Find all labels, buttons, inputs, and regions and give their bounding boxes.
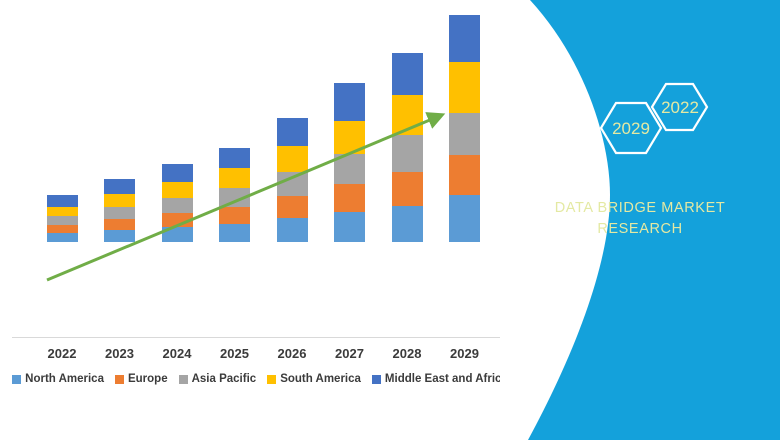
legend-swatch-icon (179, 375, 188, 384)
x-axis-label-2029: 2029 (435, 346, 495, 361)
bar-segment-europe[interactable] (47, 225, 78, 233)
chart-legend: North AmericaEuropeAsia PacificSouth Ame… (0, 373, 520, 385)
bar-2028[interactable] (392, 53, 423, 242)
brand-name: DATA BRIDGE MARKET RESEARCH (500, 198, 780, 240)
legend-swatch-icon (12, 375, 21, 384)
bar-segment-middle-east-and-africa[interactable] (162, 164, 193, 182)
slide-root: 20222023202420252026202720282029 North A… (0, 0, 780, 440)
bar-segment-europe[interactable] (104, 219, 135, 230)
bar-segment-asia-pacific[interactable] (219, 188, 250, 207)
bar-segment-europe[interactable] (162, 213, 193, 227)
bar-segment-north-america[interactable] (47, 233, 78, 242)
legend-label: Middle East and Africa (385, 373, 508, 385)
bar-segment-north-america[interactable] (219, 224, 250, 242)
bar-2023[interactable] (104, 179, 135, 242)
legend-item-europe[interactable]: Europe (115, 373, 168, 385)
bar-segment-north-america[interactable] (162, 227, 193, 242)
bar-2026[interactable] (277, 118, 308, 242)
bar-segment-europe[interactable] (334, 184, 365, 212)
bar-segment-middle-east-and-africa[interactable] (334, 83, 365, 121)
bar-segment-south-america[interactable] (449, 62, 480, 113)
plot-area (0, 0, 520, 345)
bar-segment-middle-east-and-africa[interactable] (392, 53, 423, 95)
legend-item-south-america[interactable]: South America (267, 373, 361, 385)
legend-label: South America (280, 373, 361, 385)
bar-segment-middle-east-and-africa[interactable] (449, 15, 480, 62)
bar-2022[interactable] (47, 195, 78, 242)
bar-segment-south-america[interactable] (334, 121, 365, 154)
bar-segment-north-america[interactable] (104, 230, 135, 242)
legend-swatch-icon (267, 375, 276, 384)
brand-name-line-1: DATA BRIDGE MARKET (500, 198, 780, 219)
bar-2024[interactable] (162, 164, 193, 242)
x-axis-label-2022: 2022 (32, 346, 92, 361)
bar-segment-asia-pacific[interactable] (104, 207, 135, 219)
legend-label: North America (25, 373, 104, 385)
legend-label: Europe (128, 373, 168, 385)
legend-item-middle-east-and-africa[interactable]: Middle East and Africa (372, 373, 508, 385)
hexagon-2029-label: 2029 (612, 119, 650, 138)
bar-segment-middle-east-and-africa[interactable] (47, 195, 78, 207)
bar-segment-middle-east-and-africa[interactable] (104, 179, 135, 194)
bar-segment-south-america[interactable] (162, 182, 193, 198)
x-axis-label-2024: 2024 (147, 346, 207, 361)
legend-item-north-america[interactable]: North America (12, 373, 104, 385)
bar-2029[interactable] (449, 15, 480, 242)
x-axis-label-2028: 2028 (377, 346, 437, 361)
bar-segment-europe[interactable] (219, 207, 250, 224)
bar-segment-europe[interactable] (392, 172, 423, 206)
legend-swatch-icon (372, 375, 381, 384)
stacked-bar-chart: 20222023202420252026202720282029 North A… (0, 0, 520, 440)
bar-segment-asia-pacific[interactable] (334, 154, 365, 184)
bar-segment-south-america[interactable] (277, 146, 308, 172)
x-axis-label-2023: 2023 (90, 346, 150, 361)
hexagon-2022-label: 2022 (661, 98, 699, 117)
bar-segment-south-america[interactable] (392, 95, 423, 135)
x-axis-label-2027: 2027 (320, 346, 380, 361)
bar-segment-south-america[interactable] (104, 194, 135, 207)
legend-item-asia-pacific[interactable]: Asia Pacific (179, 373, 257, 385)
bar-segment-middle-east-and-africa[interactable] (219, 148, 250, 168)
brand-hexagons: 2029 2022 (500, 78, 780, 178)
bar-segment-asia-pacific[interactable] (392, 135, 423, 172)
x-axis-label-2026: 2026 (262, 346, 322, 361)
brand-name-line-2: RESEARCH (500, 219, 780, 240)
bar-segment-europe[interactable] (277, 196, 308, 218)
legend-label: Asia Pacific (192, 373, 257, 385)
bar-segment-south-america[interactable] (47, 207, 78, 216)
bar-segment-asia-pacific[interactable] (449, 113, 480, 155)
x-axis-labels: 20222023202420252026202720282029 (0, 346, 520, 366)
bar-segment-middle-east-and-africa[interactable] (277, 118, 308, 146)
bar-segment-asia-pacific[interactable] (277, 172, 308, 196)
bar-segment-asia-pacific[interactable] (47, 216, 78, 225)
bar-segment-south-america[interactable] (219, 168, 250, 188)
bar-2025[interactable] (219, 148, 250, 242)
bar-segment-asia-pacific[interactable] (162, 198, 193, 213)
bar-segment-north-america[interactable] (334, 212, 365, 242)
bar-2027[interactable] (334, 83, 365, 242)
bar-segment-north-america[interactable] (392, 206, 423, 242)
bar-segment-north-america[interactable] (449, 195, 480, 242)
brand-panel: 2029 2022 DATA BRIDGE MARKET RESEARCH (500, 0, 780, 440)
x-axis-label-2025: 2025 (205, 346, 265, 361)
legend-swatch-icon (115, 375, 124, 384)
bar-segment-north-america[interactable] (277, 218, 308, 242)
bar-segment-europe[interactable] (449, 155, 480, 195)
